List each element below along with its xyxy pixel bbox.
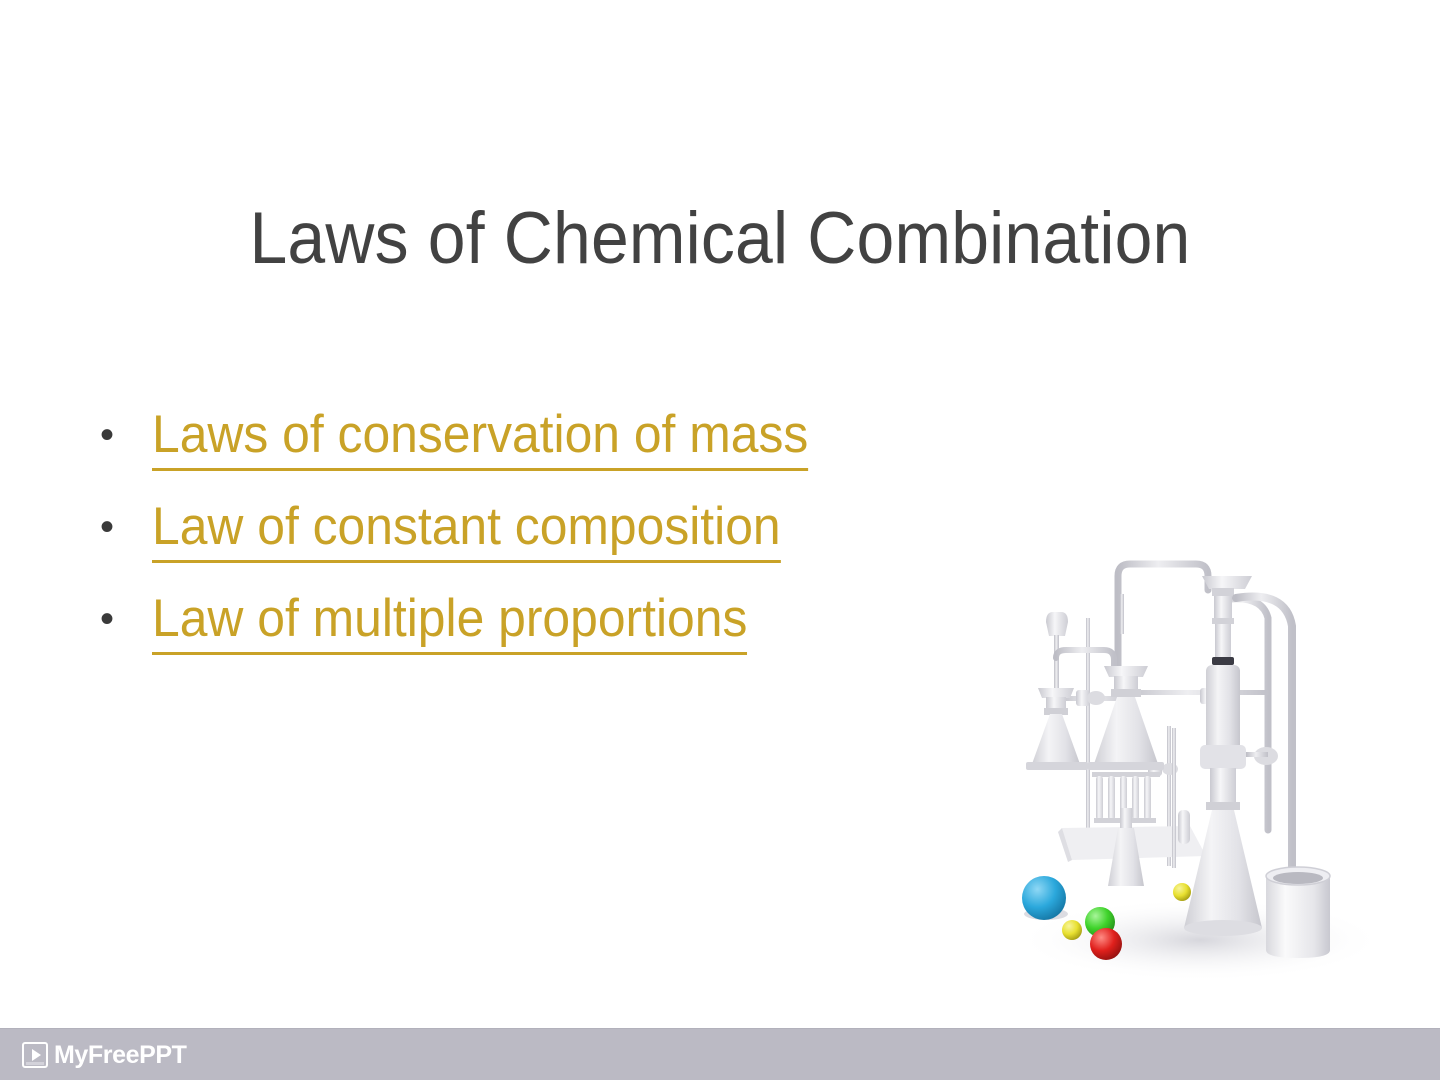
yellow-sphere-right	[1173, 883, 1191, 901]
small-vial	[1178, 810, 1190, 844]
support-rod-4	[1172, 728, 1176, 868]
brand-logo: MyFreePPT	[22, 1042, 187, 1068]
list-item: • Law of constant composition	[96, 496, 976, 588]
play-box-icon	[22, 1042, 48, 1068]
chemistry-lab-illustration	[1000, 540, 1400, 1000]
small-funnel	[1046, 612, 1068, 636]
bullet-list: • Laws of conservation of mass • Law of …	[96, 404, 976, 680]
support-rod-3	[1120, 594, 1124, 634]
link-law-of-multiple-proportions[interactable]: Law of multiple proportions	[152, 588, 747, 655]
link-law-of-constant-composition[interactable]: Law of constant composition	[152, 496, 781, 563]
page-title: Laws of Chemical Combination	[50, 195, 1389, 283]
bullet-marker-icon: •	[96, 404, 152, 466]
brand-name: MyFreePPT	[54, 1042, 187, 1068]
condenser-tube	[1236, 597, 1292, 870]
list-item: • Law of multiple proportions	[96, 588, 976, 680]
bullet-marker-icon: •	[96, 496, 152, 558]
overhead-tube-left	[1118, 564, 1208, 672]
cross-bar-2	[1120, 690, 1270, 695]
clamp-knob-1	[1076, 690, 1105, 706]
erlenmeyer-flask-middle	[1088, 666, 1164, 770]
red-sphere	[1090, 928, 1122, 960]
link-laws-of-conservation-of-mass[interactable]: Laws of conservation of mass	[152, 404, 808, 471]
blue-sphere	[1022, 876, 1066, 920]
support-rod-1	[1086, 618, 1090, 858]
yellow-sphere-left	[1062, 920, 1082, 940]
slide-canvas: Laws of Chemical Combination • Laws of c…	[0, 0, 1440, 1080]
bullet-marker-icon: •	[96, 588, 152, 650]
list-item: • Laws of conservation of mass	[96, 404, 976, 496]
small-funnel-stem	[1054, 635, 1059, 695]
beaker	[1266, 867, 1330, 958]
distillation-column	[1184, 576, 1278, 936]
footer-bar: MyFreePPT	[0, 1028, 1440, 1080]
